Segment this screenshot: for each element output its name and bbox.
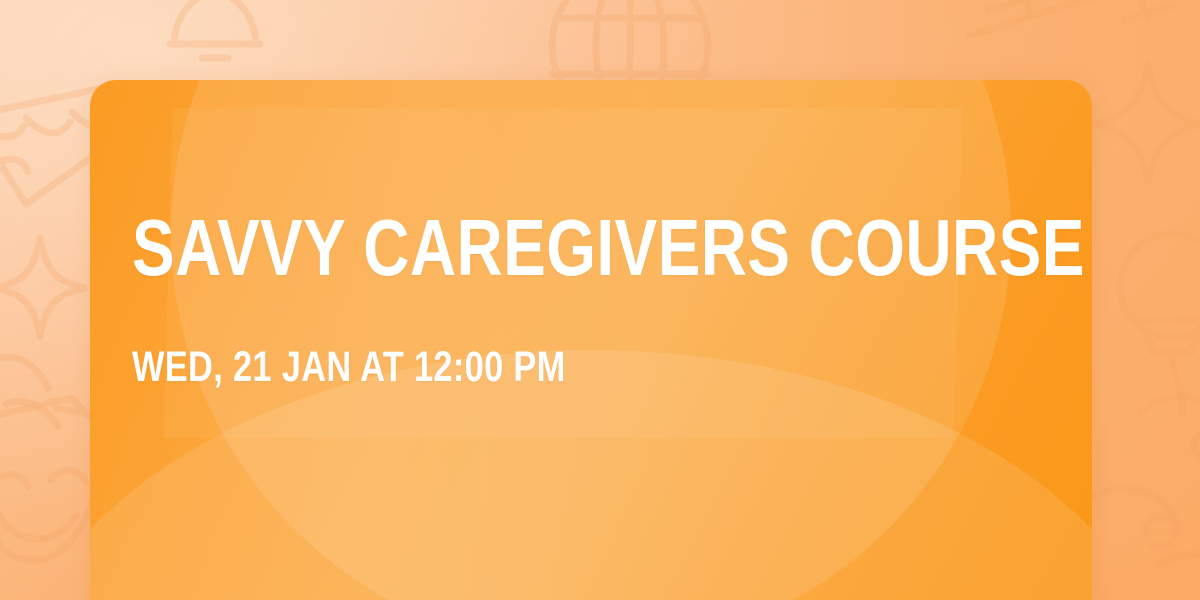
event-banner: Savvy Caregivers Course Wed, 21 Jan at 1… bbox=[0, 0, 1200, 600]
swirl-ribbon-icon bbox=[1090, 380, 1200, 600]
event-card: Savvy Caregivers Course Wed, 21 Jan at 1… bbox=[90, 80, 1092, 600]
sparkle-icon bbox=[1088, 58, 1200, 188]
event-content: Savvy Caregivers Course Wed, 21 Jan at 1… bbox=[132, 80, 1032, 600]
lamp-icon bbox=[150, 0, 280, 90]
sparkle-icon bbox=[0, 232, 90, 342]
event-datetime: Wed, 21 Jan at 12:00 PM bbox=[132, 346, 566, 389]
event-title: Savvy Caregivers Course bbox=[132, 208, 1085, 288]
